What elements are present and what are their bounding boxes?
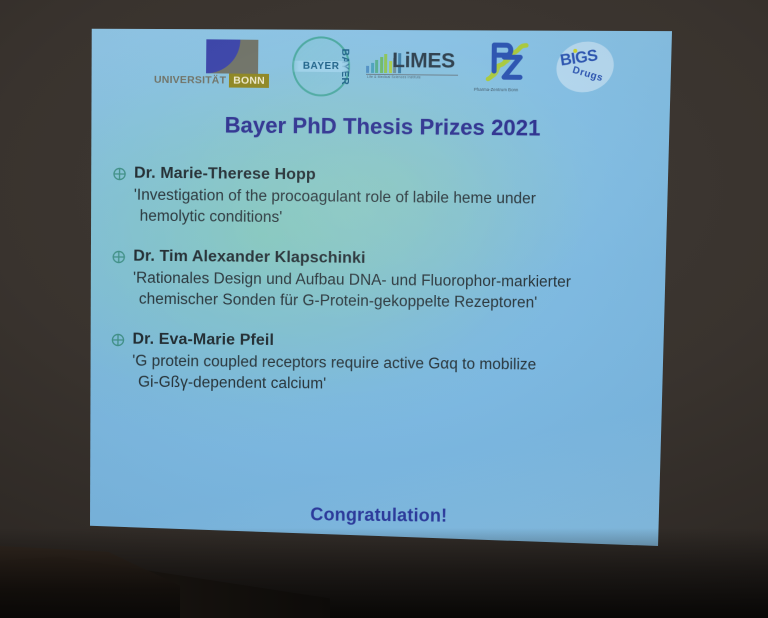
pzb-snake-icon <box>482 37 532 85</box>
university-bonn-logo: UNIVERSITÄT BONN <box>154 37 277 94</box>
circled-cross-icon <box>112 250 125 263</box>
award-recipient-name: Dr. Eva-Marie Pfeil <box>132 330 274 351</box>
award-list: Dr. Marie-Therese Hopp 'Investigation of… <box>111 163 655 417</box>
circled-cross-icon <box>111 333 124 346</box>
award-thesis-title: 'Investigation of the procoagulant role … <box>134 185 634 232</box>
university-bonn-word-bonn: BONN <box>229 74 269 88</box>
projection-area: UNIVERSITÄT BONN BAYER BAYER <box>0 0 768 618</box>
bayer-cross-logo: BAYER BAYER <box>292 36 351 97</box>
circled-cross-icon <box>113 167 126 180</box>
pzb-logo: Pharma-Zentrum Bonn <box>478 35 539 102</box>
award-recipient-name: Dr. Tim Alexander Klapschinki <box>133 247 366 269</box>
partner-logo-bar: UNIVERSITÄT BONN BAYER BAYER <box>154 29 625 106</box>
award-thesis-title: 'G protein coupled receptors require act… <box>132 351 632 398</box>
congratulation-text: Congratulation! <box>90 502 670 529</box>
university-bonn-word-universitaet: UNIVERSITÄT <box>154 73 229 88</box>
award-thesis-line-1: 'G protein coupled receptors require act… <box>132 353 536 374</box>
limes-logo: LiMES Life & Medical Sciences Institute <box>366 45 462 90</box>
room-photo: UNIVERSITÄT BONN BAYER BAYER <box>0 0 768 618</box>
bayer-cross-icon: BAYER BAYER <box>292 36 351 97</box>
award-item: Dr. Tim Alexander Klapschinki 'Rationale… <box>112 246 655 314</box>
award-thesis-line-2: hemolytic conditions' <box>134 206 634 232</box>
projected-slide: UNIVERSITÄT BONN BAYER BAYER <box>90 28 672 546</box>
award-thesis-line-2: Gi-Gßγ-dependent calcium' <box>132 372 632 398</box>
bigs-drugs-logo: BIGS Drugs <box>554 40 617 99</box>
page-title: Bayer PhD Thesis Prizes 2021 <box>91 111 672 143</box>
bigs-dot-icon <box>573 49 578 54</box>
award-recipient-name: Dr. Marie-Therese Hopp <box>134 164 316 186</box>
award-thesis-line-1: 'Rationales Design und Aufbau DNA- und F… <box>133 270 571 291</box>
bayer-horizontal-wordmark: BAYER <box>292 61 350 73</box>
award-thesis-line-2: chemischer Sonden für G-Protein-gekoppel… <box>133 289 633 315</box>
award-item: Dr. Marie-Therese Hopp 'Investigation of… <box>113 163 656 231</box>
award-item: Dr. Eva-Marie Pfeil 'G protein coupled r… <box>111 329 654 397</box>
pzb-subtitle: Pharma-Zentrum Bonn <box>474 87 519 92</box>
award-thesis-title: 'Rationales Design und Aufbau DNA- und F… <box>133 268 633 315</box>
university-bonn-mark-blue-icon <box>206 39 240 73</box>
limes-wordmark: LiMES <box>392 49 455 74</box>
slide-content: UNIVERSITÄT BONN BAYER BAYER <box>90 28 672 546</box>
university-bonn-wordmark: UNIVERSITÄT BONN <box>154 73 269 88</box>
limes-subtitle: Life & Medical Sciences Institute <box>367 75 421 80</box>
award-thesis-line-1: 'Investigation of the procoagulant role … <box>134 187 536 208</box>
university-bonn-mark-icon <box>206 39 258 73</box>
